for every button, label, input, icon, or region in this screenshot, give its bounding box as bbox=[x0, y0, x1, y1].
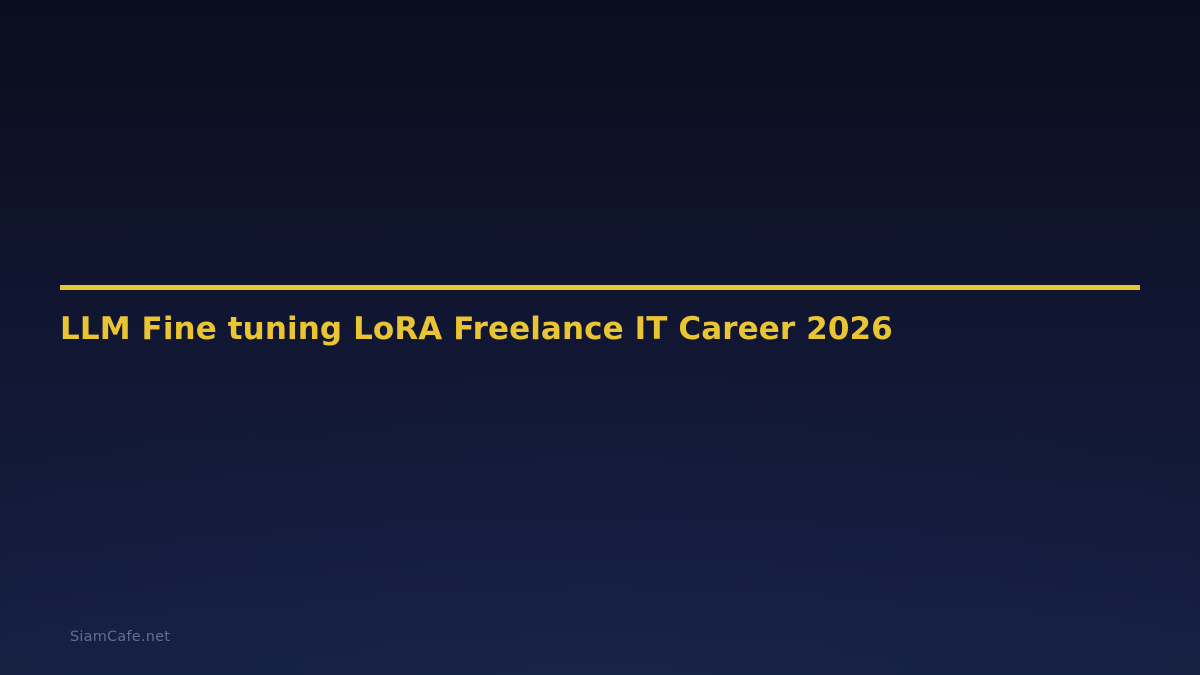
gold-accent-rule bbox=[60, 285, 1140, 290]
title-slide: LLM Fine tuning LoRA Freelance IT Career… bbox=[0, 0, 1200, 675]
title-block: LLM Fine tuning LoRA Freelance IT Career… bbox=[60, 285, 1140, 348]
page-title: LLM Fine tuning LoRA Freelance IT Career… bbox=[60, 311, 1140, 348]
site-watermark: SiamCafe.net bbox=[70, 629, 170, 645]
